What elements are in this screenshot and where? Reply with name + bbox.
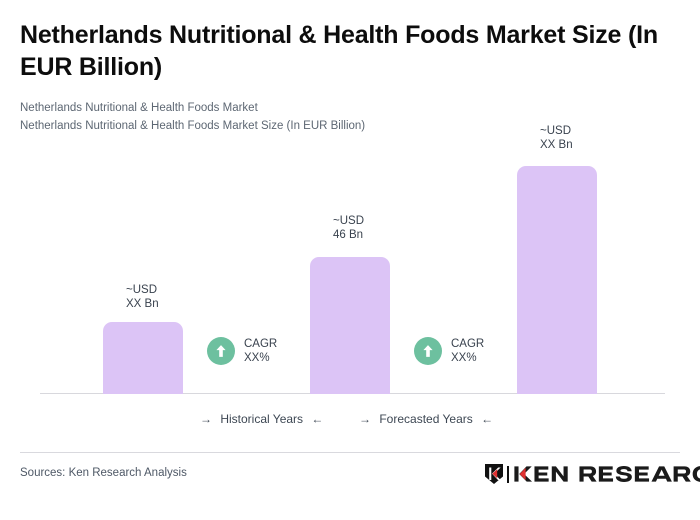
bar-value-label-1-line1: ~USD xyxy=(333,214,423,228)
arrow-right-icon: → xyxy=(359,410,371,428)
cagr-annotation-1-line2: XX% xyxy=(451,351,484,365)
arrow-left-icon: ← xyxy=(311,410,323,428)
cagr-up-arrow-icon xyxy=(414,337,442,365)
brand-logo xyxy=(484,463,700,485)
bar-value-label-2-line1: ~USD xyxy=(540,124,630,138)
period-legend-forecasted-label: Forecasted Years xyxy=(374,410,477,428)
brand-wordmark xyxy=(513,465,700,483)
cagr-annotation-0-line1: CAGR xyxy=(244,337,277,351)
ken-research-shield-icon xyxy=(484,463,504,485)
brand-divider xyxy=(507,466,509,483)
arrow-left-icon: ← xyxy=(481,410,493,428)
period-legend-historical: → Historical Years ← xyxy=(200,410,323,428)
arrow-right-icon: → xyxy=(200,410,212,428)
period-legend-historical-label: Historical Years xyxy=(215,410,308,428)
bar-chart-plot-area: ~USD XX Bn ~USD 46 Bn ~USD XX Bn CAGR XX… xyxy=(0,0,700,400)
cagr-annotation-0: CAGR XX% xyxy=(207,337,277,365)
bar-value-label-2-line2: XX Bn xyxy=(540,138,630,152)
bar-value-label-1-line2: 46 Bn xyxy=(333,228,423,242)
source-note: Sources: Ken Research Analysis xyxy=(20,465,187,481)
cagr-up-arrow-icon xyxy=(207,337,235,365)
cagr-annotation-0-line2: XX% xyxy=(244,351,277,365)
bar-value-label-0: ~USD XX Bn xyxy=(126,283,216,311)
period-legend: → Historical Years ← → Forecasted Years … xyxy=(0,410,700,430)
bar-series-item-2[interactable] xyxy=(517,166,597,394)
bar-series-item-1[interactable] xyxy=(310,257,390,394)
chart-card: Netherlands Nutritional & Health Foods M… xyxy=(0,0,700,520)
cagr-annotation-0-text: CAGR XX% xyxy=(244,337,277,365)
cagr-annotation-1-text: CAGR XX% xyxy=(451,337,484,365)
period-legend-forecasted: → Forecasted Years ← xyxy=(359,410,493,428)
bar-value-label-2: ~USD XX Bn xyxy=(540,124,630,152)
cagr-annotation-1-line1: CAGR xyxy=(451,337,484,351)
cagr-annotation-1: CAGR XX% xyxy=(414,337,484,365)
bar-value-label-1: ~USD 46 Bn xyxy=(333,214,423,242)
bar-series-item-0[interactable] xyxy=(103,322,183,394)
footer-divider xyxy=(20,452,680,453)
bar-value-label-0-line2: XX Bn xyxy=(126,297,216,311)
bar-value-label-0-line1: ~USD xyxy=(126,283,216,297)
